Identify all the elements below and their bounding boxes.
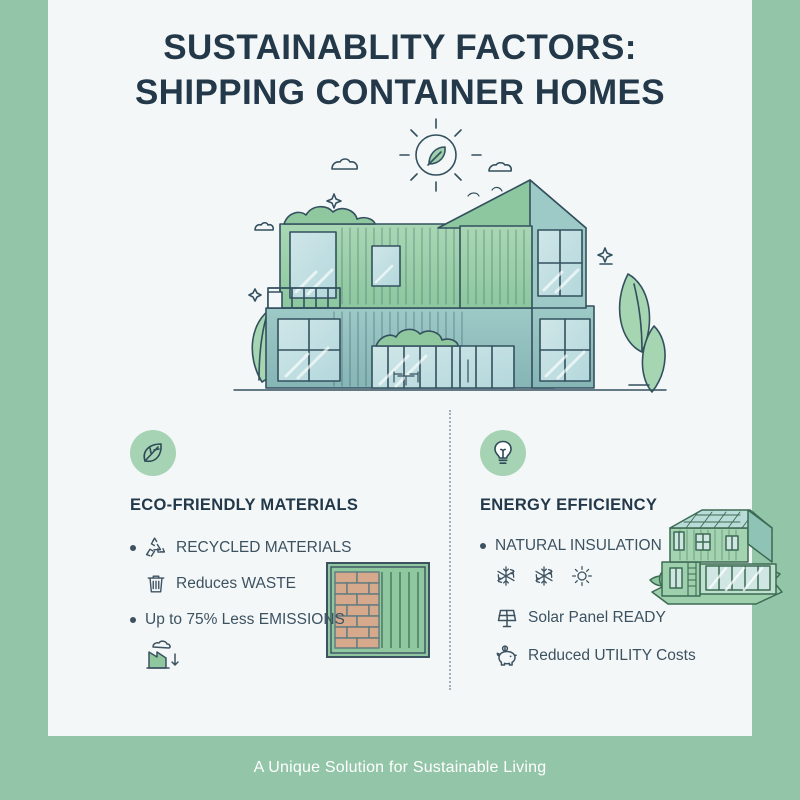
cloud-icon [332, 159, 357, 169]
climate-icon-row [480, 565, 780, 592]
lightbulb-icon [488, 438, 518, 468]
factory-icon [145, 635, 193, 678]
list-item-solar-panel-ready: Solar Panel READY [480, 606, 780, 630]
title-line-2: SHIPPING CONTAINER HOMES [48, 71, 752, 116]
list-item-less-emissions: Up to 75% Less EMISSIONS [130, 611, 440, 629]
content-card: SUSTAINABLITY FACTORS: SHIPPING CONTAINE… [48, 0, 752, 736]
footer-tagline: A Unique Solution for Sustainable Living [0, 736, 800, 800]
factory-icon-row [130, 635, 440, 678]
list-item-label: Up to 75% Less EMISSIONS [145, 611, 345, 629]
snowflake-icon [533, 565, 555, 592]
recycle-icon [145, 537, 167, 559]
bullet-dot [130, 545, 136, 551]
list-item-label: Reduced UTILITY Costs [528, 647, 696, 665]
sparkle-icon [249, 289, 261, 301]
energy-items-list: NATURAL INSULATION [480, 537, 780, 668]
list-item-label: RECYCLED MATERIALS [176, 539, 351, 557]
page-title: SUSTAINABLITY FACTORS: SHIPPING CONTAINE… [48, 26, 752, 116]
solar-panel-icon [495, 606, 519, 630]
sun-with-leaf-icon [400, 119, 481, 191]
piggy-bank-icon [495, 644, 519, 668]
list-item-reduced-utility-costs: Reduced UTILITY Costs [480, 644, 780, 668]
hero-illustration [224, 112, 676, 400]
footer-text: A Unique Solution for Sustainable Living [254, 759, 547, 777]
leaf-decoration [620, 274, 665, 392]
list-item-label: NATURAL INSULATION [495, 537, 662, 555]
trash-icon [145, 573, 167, 595]
sparkle-icon [327, 194, 341, 208]
sun-icon [571, 565, 593, 592]
lightbulb-badge [480, 430, 526, 476]
bullet-dot [130, 617, 136, 623]
infographic-poster: SUSTAINABLITY FACTORS: SHIPPING CONTAINE… [0, 0, 800, 800]
sparkle-icon [598, 248, 612, 262]
list-item-reduces-waste: Reduces WASTE [130, 573, 440, 595]
cloud-icon [255, 223, 273, 230]
section-energy-efficiency: ENERGY EFFICIENCY NATURAL INSULATION [480, 430, 780, 668]
list-item-natural-insulation: NATURAL INSULATION [480, 537, 780, 555]
snowflake-icon [495, 565, 517, 592]
list-item-label: Solar Panel READY [528, 609, 666, 627]
eco-items-list: RECYCLED MATERIALS Reduces WASTE [130, 537, 440, 678]
column-divider [449, 410, 451, 690]
list-item-recycled-materials: RECYCLED MATERIALS [130, 537, 440, 559]
section-title-eco-friendly-materials: ECO-FRIENDLY MATERIALS [130, 496, 440, 515]
title-line-1: SUSTAINABLITY FACTORS: [48, 26, 752, 71]
bullet-dot [480, 543, 486, 549]
section-eco-friendly-materials: ECO-FRIENDLY MATERIALS RECYCLED MATERIAL… [130, 430, 440, 678]
cloud-icon [489, 163, 511, 171]
list-item-label: Reduces WASTE [176, 575, 296, 593]
leaf-icon [138, 438, 168, 468]
leaf-badge [130, 430, 176, 476]
